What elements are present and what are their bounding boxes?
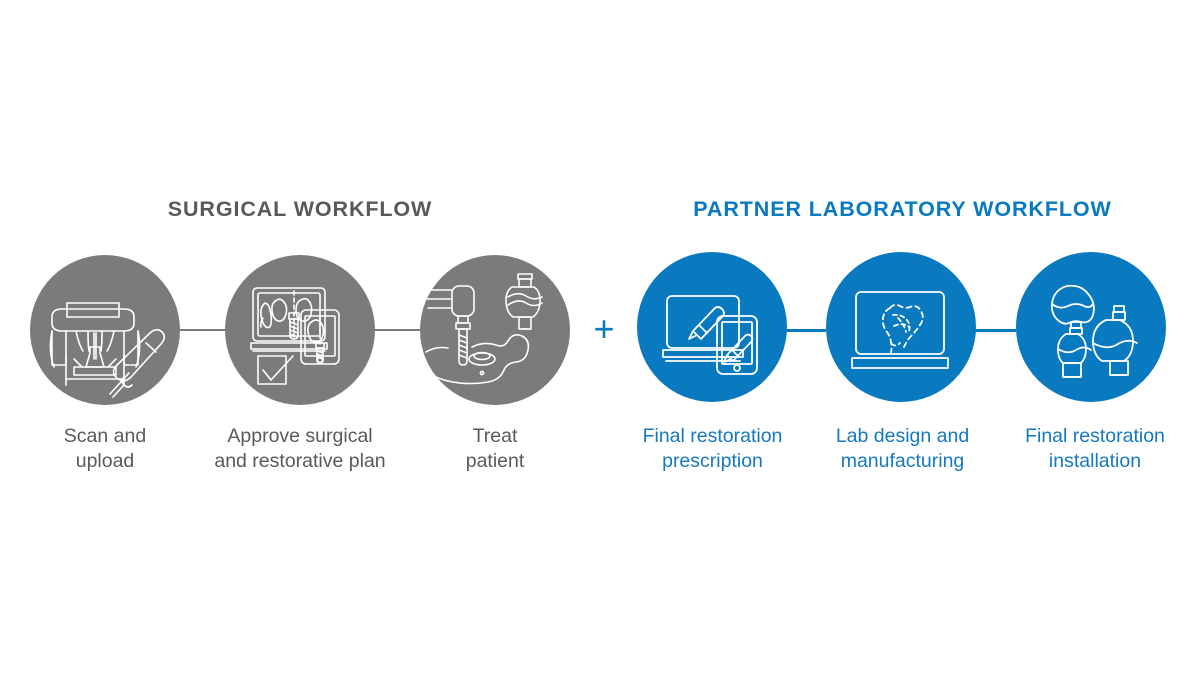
caption-final-restoration-installation: Final restoration installation <box>1000 424 1190 474</box>
caption-line: Treat <box>415 424 575 449</box>
step-approve-plan[interactable] <box>225 255 375 405</box>
partner-laboratory-workflow-heading: PARTNER LABORATORY WORKFLOW <box>605 199 1200 221</box>
step-lab-design-and-manufacturing[interactable] <box>826 252 976 402</box>
caption-line: and restorative plan <box>185 449 415 474</box>
caption-line: manufacturing <box>810 449 995 474</box>
step-final-restoration-installation[interactable] <box>1016 252 1166 402</box>
caption-line: Approve surgical <box>185 424 415 449</box>
caption-approve-plan: Approve surgical and restorative plan <box>185 424 415 474</box>
step-scan-and-upload[interactable] <box>30 255 180 405</box>
caption-line: installation <box>1000 449 1190 474</box>
laptop-tablet-pencil-prescription-icon <box>637 252 787 402</box>
step-treat-patient[interactable] <box>420 255 570 405</box>
caption-line: Final restoration <box>615 424 810 449</box>
crown-abutment-restoration-icon <box>1016 252 1166 402</box>
caption-line: upload <box>15 449 195 474</box>
caption-line: prescription <box>615 449 810 474</box>
caption-treat-patient: Treat patient <box>415 424 575 474</box>
cbct-scanner-and-intraoral-scanner-icon <box>30 255 180 405</box>
workflow-diagram: SURGICAL WORKFLOW PARTNER LABORATORY WOR… <box>0 0 1200 675</box>
surgical-workflow-heading: SURGICAL WORKFLOW <box>0 199 600 221</box>
plus-separator: + <box>588 313 620 345</box>
caption-line: Scan and <box>15 424 195 449</box>
caption-line: Lab design and <box>810 424 995 449</box>
caption-line: patient <box>415 449 575 474</box>
step-final-restoration-prescription[interactable] <box>637 252 787 402</box>
caption-final-restoration-prescription: Final restoration prescription <box>615 424 810 474</box>
caption-scan-and-upload: Scan and upload <box>15 424 195 474</box>
surgical-handpiece-guided-drilling-icon <box>420 255 570 405</box>
laptop-cad-tooth-design-icon <box>826 252 976 402</box>
laptop-tablet-treatment-plan-checkmark-icon <box>225 255 375 405</box>
caption-line: Final restoration <box>1000 424 1190 449</box>
caption-lab-design-and-manufacturing: Lab design and manufacturing <box>810 424 995 474</box>
